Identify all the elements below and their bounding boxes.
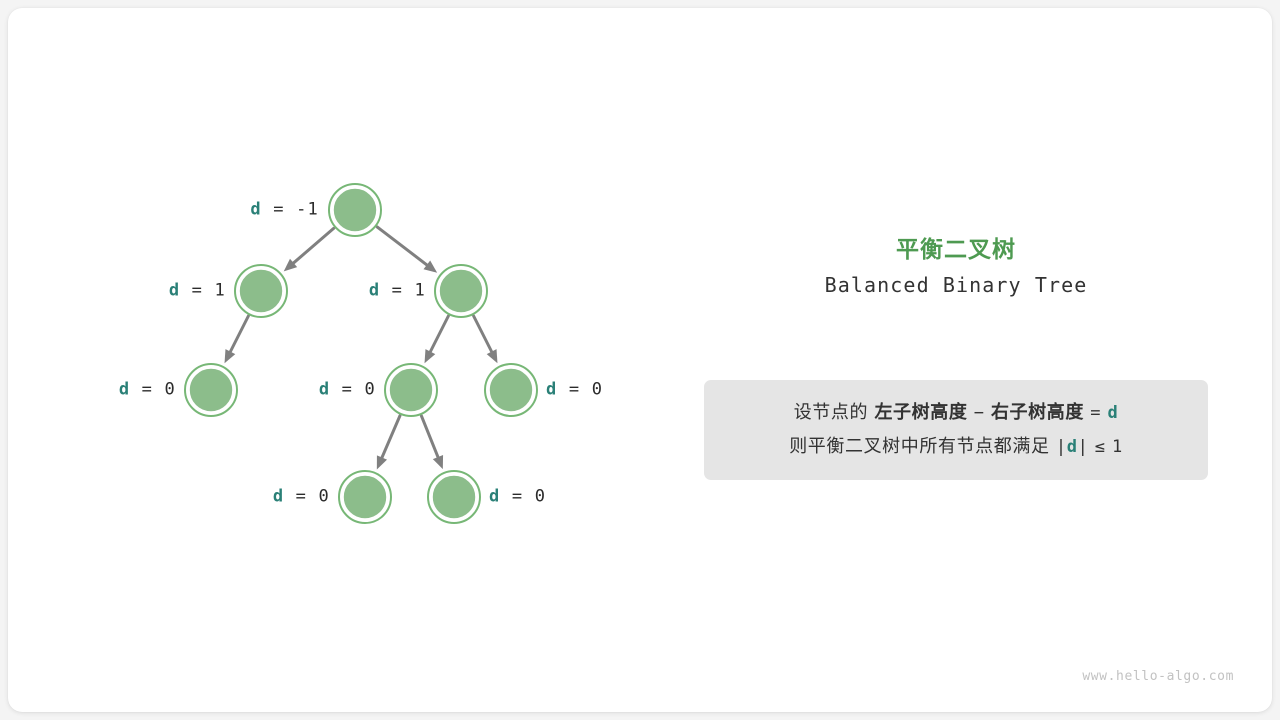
- tree-node: [385, 364, 437, 416]
- tree-node: [485, 364, 537, 416]
- tree-edge: [474, 316, 492, 352]
- info-line1-prefix: 设节点的: [794, 402, 868, 423]
- tree-node-fill: [343, 475, 388, 520]
- tree-node-fill: [489, 368, 534, 413]
- info-line2-prefix: 则平衡二叉树中所有节点都满足: [789, 436, 1049, 457]
- info-line1-minus: −: [974, 403, 985, 423]
- tree-node: [329, 184, 381, 236]
- balance-variable-d: d: [489, 487, 500, 507]
- tree-node-balance-label: d = 0: [489, 489, 546, 506]
- balance-value: = -1: [262, 200, 319, 220]
- info-line-2: 则平衡二叉树中所有节点都满足 |d| ≤ 1: [704, 430, 1208, 464]
- tree-edge: [430, 316, 448, 352]
- balance-variable-d: d: [546, 380, 557, 400]
- tree-node: [339, 471, 391, 523]
- tree-edges: [225, 227, 498, 469]
- balance-variable-d: d: [369, 281, 380, 301]
- tree-node-fill: [239, 269, 284, 314]
- tree-node-fill: [432, 475, 477, 520]
- balance-value: = 0: [330, 380, 376, 400]
- tree-edge: [294, 228, 334, 263]
- page-title: 平衡二叉树: [704, 236, 1208, 265]
- tree-node-balance-label: d = 0: [546, 382, 603, 399]
- balance-variable-d: d: [273, 487, 284, 507]
- info-line1-d: d: [1107, 403, 1118, 423]
- balance-value: = 0: [130, 380, 176, 400]
- tree-edge: [382, 416, 400, 458]
- tree-node-fill: [389, 368, 434, 413]
- balance-value: = 1: [180, 281, 226, 301]
- balance-variable-d: d: [169, 281, 180, 301]
- balance-value: = 1: [380, 281, 426, 301]
- tree-node: [235, 265, 287, 317]
- tree-node-fill: [333, 188, 378, 233]
- definition-info-box: 设节点的 左子树高度 − 右子树高度 = d 则平衡二叉树中所有节点都满足 |d…: [704, 380, 1208, 480]
- page-background: d = -1d = 1d = 1d = 0d = 0d = 0d = 0d = …: [0, 0, 1280, 720]
- info-line2-d: d: [1067, 437, 1078, 457]
- balance-variable-d: d: [250, 200, 261, 220]
- info-line-1: 设节点的 左子树高度 − 右子树高度 = d: [704, 396, 1208, 430]
- balance-value: = 0: [284, 487, 330, 507]
- content-card: d = -1d = 1d = 1d = 0d = 0d = 0d = 0d = …: [8, 8, 1272, 712]
- tree-node: [435, 265, 487, 317]
- tree-node-balance-label: d = -1: [250, 202, 319, 219]
- tree-node-balance-label: d = 1: [369, 283, 426, 300]
- balance-value: = 0: [557, 380, 603, 400]
- tree-node: [185, 364, 237, 416]
- page-subtitle: Balanced Binary Tree: [704, 273, 1208, 298]
- tree-edge: [421, 416, 438, 457]
- info-line1-equals: =: [1090, 403, 1101, 423]
- footer-url: www.hello-algo.com: [1082, 669, 1234, 684]
- binary-tree-diagram: [8, 8, 1272, 712]
- info-line1-bold-left-height: 左子树高度: [874, 402, 967, 423]
- tree-edge-arrowhead: [433, 455, 443, 469]
- tree-node-balance-label: d = 1: [169, 283, 226, 300]
- tree-node-balance-label: d = 0: [119, 382, 176, 399]
- balance-variable-d: d: [319, 380, 330, 400]
- title-block: 平衡二叉树 Balanced Binary Tree: [704, 236, 1208, 298]
- balance-value: = 0: [500, 487, 546, 507]
- tree-edge: [230, 316, 248, 352]
- tree-node: [428, 471, 480, 523]
- info-line2-value: 1: [1112, 437, 1123, 457]
- balance-variable-d: d: [119, 380, 130, 400]
- tree-node-fill: [189, 368, 234, 413]
- tree-edge: [377, 227, 427, 265]
- info-line2-bar-open: |: [1056, 437, 1067, 457]
- tree-node-balance-label: d = 0: [273, 489, 330, 506]
- tree-node-balance-label: d = 0: [319, 382, 376, 399]
- info-line2-operator: ≤: [1095, 437, 1106, 457]
- tree-node-fill: [439, 269, 484, 314]
- info-line2-bar-close: |: [1078, 437, 1089, 457]
- info-line1-bold-right-height: 右子树高度: [991, 402, 1084, 423]
